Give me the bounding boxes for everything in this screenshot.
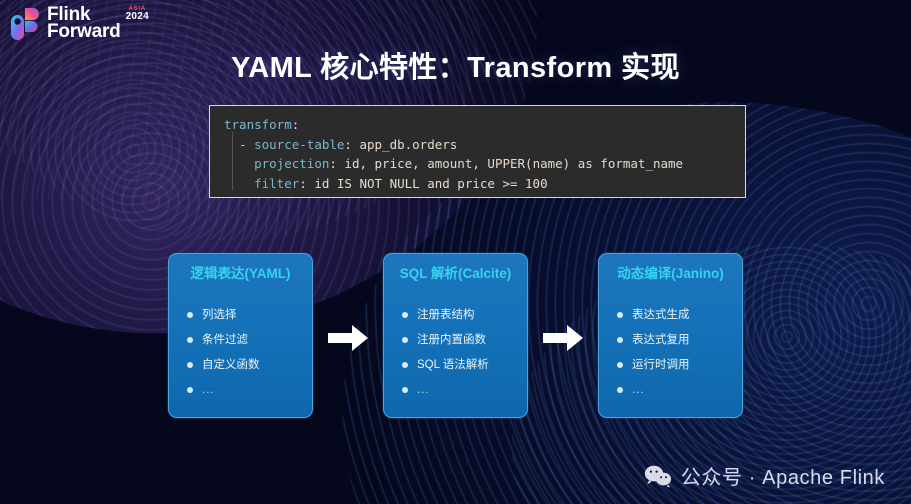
flow-arrow-2 (528, 253, 598, 423)
flow-card-item-label: 表达式复用 (632, 333, 690, 347)
code-token: : id IS NOT NULL and price >= 100 (299, 176, 547, 191)
logo-edition-badge: ASIA 2024 (126, 5, 149, 21)
flow-card-item-label: 注册内置函数 (417, 333, 486, 347)
bullet-icon (187, 312, 193, 318)
flow-card-title: SQL 解析(Calcite) (394, 266, 517, 282)
flow-card-item: ... (617, 383, 732, 397)
flow-card-item-label: 条件过滤 (202, 333, 248, 347)
bullet-icon (617, 387, 623, 393)
code-token: : id, price, amount, UPPER(name) as form… (329, 156, 683, 171)
flow-card-item-label: ... (417, 383, 430, 397)
logo-wordmark: Flink Forward ASIA 2024 (47, 4, 149, 40)
flink-forward-logo: Flink Forward ASIA 2024 (10, 4, 149, 41)
flow-card-item: SQL 语法解析 (402, 358, 517, 372)
flow-card-item-label: 运行时调用 (632, 358, 690, 372)
code-token: transform (224, 117, 292, 132)
flow-card-item-label: 表达式生成 (632, 308, 690, 322)
yaml-code-block: transform: - source-table: app_db.orders… (209, 105, 746, 198)
flow-card-title: 动态编译(Janino) (609, 266, 732, 282)
footer-text: 公众号 · Apache Flink (681, 461, 885, 490)
bullet-icon (617, 312, 623, 318)
bullet-icon (187, 387, 193, 393)
flow-card-logical-expression[interactable]: 逻辑表达(YAML) 列选择条件过滤自定义函数... (168, 253, 313, 418)
flow-card-item-label: 自定义函数 (202, 358, 260, 372)
code-token: : app_db.orders (344, 137, 457, 152)
slide-root: Flink Forward ASIA 2024 YAML 核心特性：Transf… (0, 0, 911, 504)
bullet-icon (402, 362, 408, 368)
logo-name: Flink Forward (47, 4, 121, 40)
flow-card-title: 逻辑表达(YAML) (179, 266, 302, 282)
flow-card-item: ... (187, 383, 302, 397)
flow-card-item: 条件过滤 (187, 333, 302, 347)
arrow-right-icon (328, 325, 368, 351)
flow-card-item: 表达式复用 (617, 333, 732, 347)
bullet-icon (187, 337, 193, 343)
bullet-icon (402, 312, 408, 318)
flow-card-item: ... (402, 383, 517, 397)
flow-card-item: 列选择 (187, 308, 302, 322)
flow-card-item-label: 列选择 (202, 308, 237, 322)
code-token: filter (254, 176, 299, 191)
page-title: YAML 核心特性：Transform 实现 (0, 44, 911, 86)
flow-card-item: 表达式生成 (617, 308, 732, 322)
code-token (224, 156, 254, 171)
bullet-icon (402, 337, 408, 343)
wechat-icon (644, 464, 672, 488)
bullet-icon (187, 362, 193, 368)
flow-card-item-label: 注册表结构 (417, 308, 475, 322)
flow-card-item-list: 表达式生成表达式复用运行时调用... (609, 308, 732, 408)
logo-badge-year: 2024 (126, 13, 149, 21)
flow-card-item-list: 列选择条件过滤自定义函数... (179, 308, 302, 408)
flow-card-item: 注册表结构 (402, 308, 517, 322)
code-token: source-table (254, 137, 344, 152)
bullet-icon (617, 337, 623, 343)
code-token: projection (254, 156, 329, 171)
flow-card-item-label: ... (202, 383, 215, 397)
code-token (224, 176, 254, 191)
flow-card-item-label: SQL 语法解析 (417, 358, 489, 372)
bullet-icon (402, 387, 408, 393)
flow-arrow-1 (313, 253, 383, 423)
flow-card-item-list: 注册表结构注册内置函数SQL 语法解析... (394, 308, 517, 408)
flow-card-dynamic-compile[interactable]: 动态编译(Janino) 表达式生成表达式复用运行时调用... (598, 253, 743, 418)
flink-squirrel-logo-icon (10, 7, 40, 41)
code-line: - source-table: app_db.orders (224, 135, 745, 155)
transform-flow-diagram: 逻辑表达(YAML) 列选择条件过滤自定义函数... SQL 解析(Calcit… (0, 253, 911, 423)
code-token: : (292, 117, 300, 132)
flow-card-sql-parse[interactable]: SQL 解析(Calcite) 注册表结构注册内置函数SQL 语法解析... (383, 253, 528, 418)
flow-card-item: 注册内置函数 (402, 333, 517, 347)
flow-card-item-label: ... (632, 383, 645, 397)
bullet-icon (617, 362, 623, 368)
code-lines: transform: - source-table: app_db.orders… (224, 115, 745, 193)
footer-watermark: 公众号 · Apache Flink (644, 461, 885, 490)
flow-card-item: 自定义函数 (187, 358, 302, 372)
code-token: - (224, 137, 254, 152)
code-line: filter: id IS NOT NULL and price >= 100 (224, 174, 745, 194)
code-line: transform: (224, 115, 745, 135)
arrow-right-icon (543, 325, 583, 351)
code-line: projection: id, price, amount, UPPER(nam… (224, 154, 745, 174)
flow-card-item: 运行时调用 (617, 358, 732, 372)
